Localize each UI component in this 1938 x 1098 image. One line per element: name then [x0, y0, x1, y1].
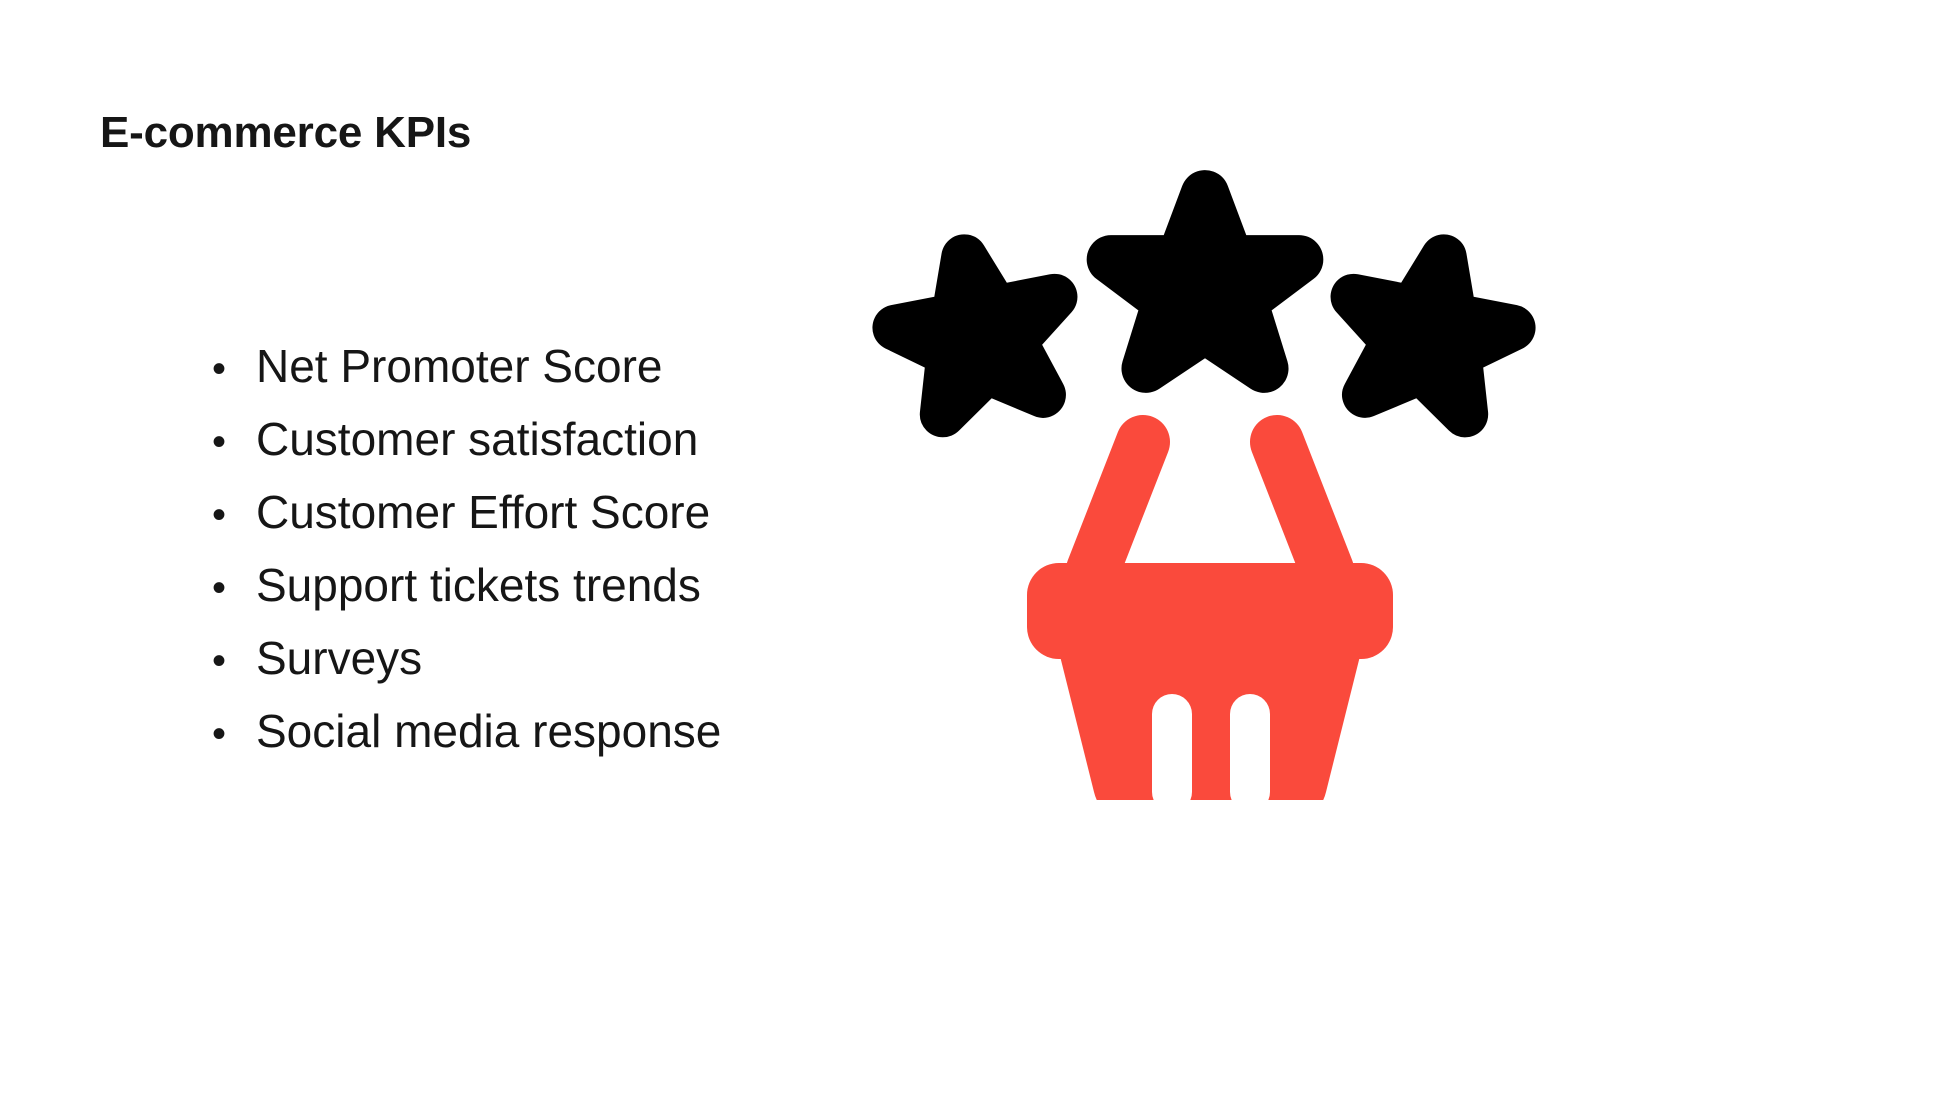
list-item-label: Net Promoter Score [256, 330, 662, 403]
bullet-icon: • [212, 406, 256, 479]
list-item: • Surveys [212, 622, 721, 695]
bullet-icon: • [212, 333, 256, 406]
basket-slot [1230, 694, 1270, 800]
ecommerce-rating-illustration [860, 120, 1560, 800]
list-item: • Customer satisfaction [212, 403, 721, 476]
list-item: • Support tickets trends [212, 549, 721, 622]
list-item: • Social media response [212, 695, 721, 768]
bullet-icon: • [212, 552, 256, 625]
star-left-icon [885, 242, 1073, 420]
page-title: E-commerce KPIs [100, 108, 471, 158]
slide-canvas: E-commerce KPIs • Net Promoter Score • C… [0, 0, 1938, 1098]
list-item-label: Support tickets trends [256, 549, 701, 622]
bullet-icon: • [212, 698, 256, 771]
list-item-label: Customer satisfaction [256, 403, 698, 476]
shopping-basket-icon [1027, 442, 1393, 800]
star-center-icon [1111, 194, 1299, 368]
star-right-icon [1336, 242, 1524, 420]
list-item: • Net Promoter Score [212, 330, 721, 403]
bullet-icon: • [212, 625, 256, 698]
list-item-label: Social media response [256, 695, 721, 768]
kpi-bullet-list: • Net Promoter Score • Customer satisfac… [212, 330, 721, 768]
list-item: • Customer Effort Score [212, 476, 721, 549]
basket-slot [1152, 694, 1192, 800]
bullet-icon: • [212, 479, 256, 552]
list-item-label: Surveys [256, 622, 422, 695]
list-item-label: Customer Effort Score [256, 476, 710, 549]
